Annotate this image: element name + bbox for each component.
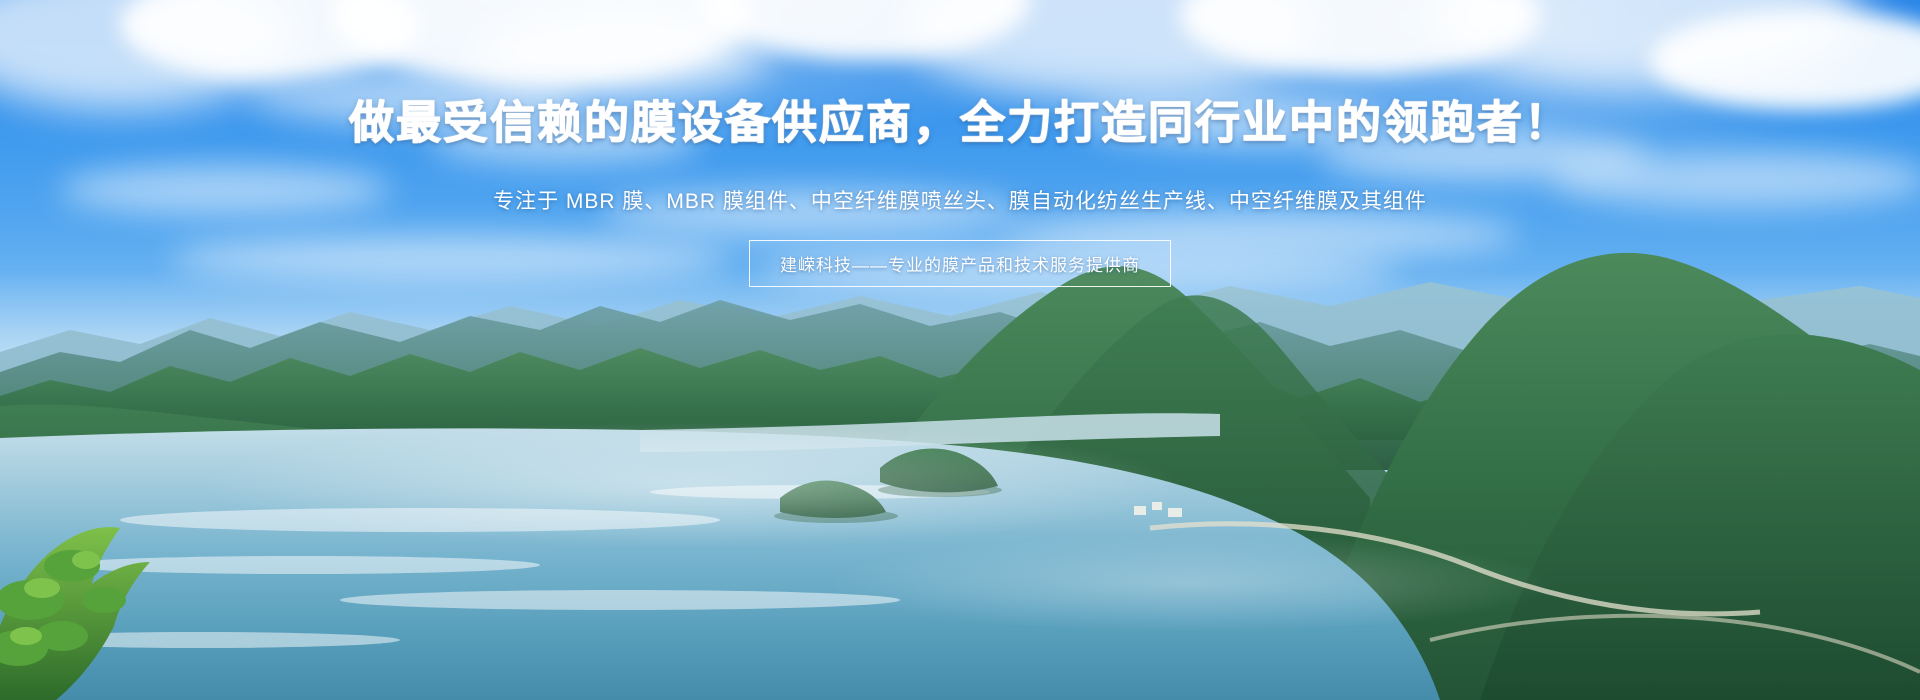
banner-tagline-box: 建嵘科技——专业的膜产品和技术服务提供商	[749, 240, 1171, 287]
hero-banner: 做最受信赖的膜设备供应商，全力打造同行业中的领跑者！ 专注于 MBR 膜、MBR…	[0, 0, 1920, 700]
banner-headline: 做最受信赖的膜设备供应商，全力打造同行业中的领跑者！	[0, 96, 1920, 151]
banner-tagline-wrapper: 建嵘科技——专业的膜产品和技术服务提供商	[0, 240, 1920, 287]
banner-copy: 做最受信赖的膜设备供应商，全力打造同行业中的领跑者！ 专注于 MBR 膜、MBR…	[0, 0, 1920, 700]
banner-subheadline: 专注于 MBR 膜、MBR 膜组件、中空纤维膜喷丝头、膜自动化纺丝生产线、中空纤…	[0, 186, 1920, 218]
